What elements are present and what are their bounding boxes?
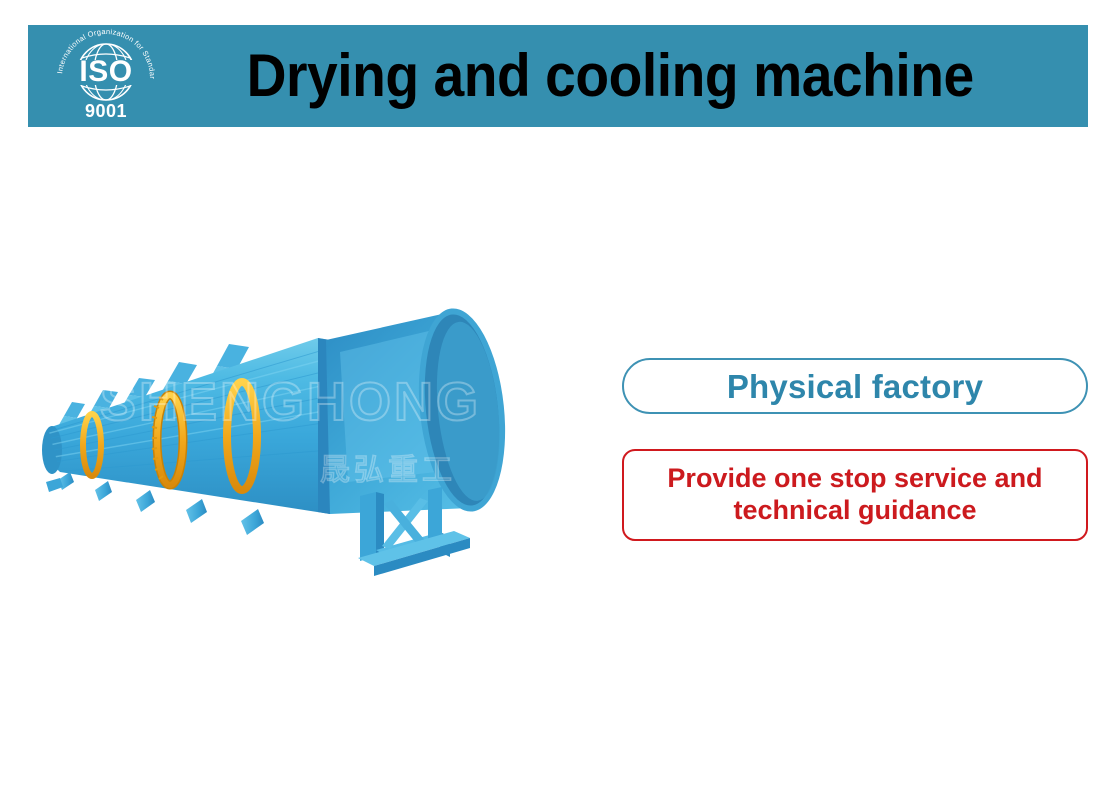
- iso-9001-logo: International Organization for Standardi…: [52, 26, 160, 126]
- service-note-line-1: Provide one stop service and: [667, 463, 1042, 495]
- product-image: SHENGHONG 晟弘重工: [30, 300, 610, 600]
- physical-factory-button[interactable]: Physical factory: [622, 358, 1088, 414]
- svg-text:9001: 9001: [85, 101, 127, 121]
- svg-text:晟弘重工: 晟弘重工: [320, 453, 456, 488]
- service-note-line-2: technical guidance: [733, 495, 976, 527]
- service-note-box: Provide one stop service and technical g…: [622, 449, 1088, 541]
- svg-text:SHENGHONG: SHENGHONG: [100, 372, 481, 432]
- page-title: Drying and cooling machine: [197, 46, 1051, 106]
- svg-text:ISO: ISO: [79, 55, 132, 88]
- rotary-drum-illustration: SHENGHONG 晟弘重工: [30, 300, 610, 600]
- right-info-panel: Physical factory Provide one stop servic…: [622, 358, 1088, 541]
- header-banner: International Organization for Standardi…: [28, 25, 1088, 127]
- iso-globe-icon: International Organization for Standardi…: [52, 26, 160, 126]
